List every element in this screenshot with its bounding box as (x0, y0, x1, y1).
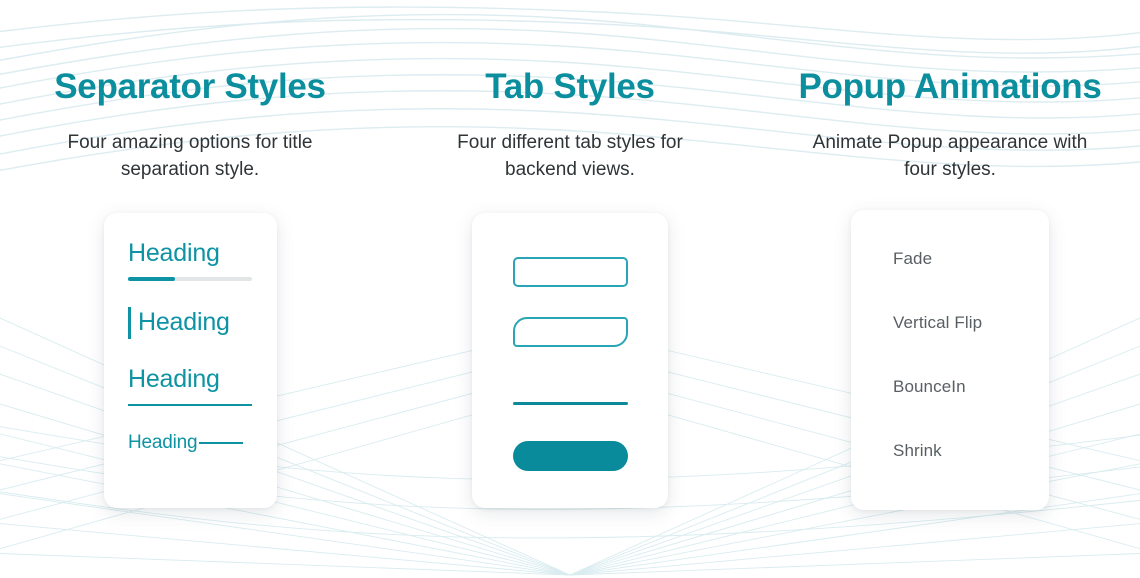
tab-option-outline-rounded-rect[interactable] (513, 257, 628, 287)
separator-label: Heading (128, 239, 252, 269)
tab-option-outline-diagonal-rounded[interactable] (513, 317, 628, 347)
feature-columns: Separator Styles Four amazing options fo… (0, 0, 1140, 578)
column-subtitle-tab-styles: Four different tab styles for backend vi… (420, 129, 720, 184)
separator-option-trailing-line[interactable]: Heading (128, 432, 252, 454)
column-title-popup-animations: Popup Animations (798, 68, 1101, 107)
column-subtitle-separator-styles: Four amazing options for title separatio… (40, 129, 340, 184)
column-title-separator-styles: Separator Styles (54, 68, 325, 107)
separator-rule-full (128, 404, 252, 406)
tab-option-filled-pill[interactable] (513, 441, 628, 471)
separator-styles-card: Heading Heading Heading Heading (104, 213, 277, 508)
tab-styles-card (472, 213, 668, 508)
separator-label: Heading (128, 365, 252, 395)
popup-option-vertical-flip[interactable]: Vertical Flip (893, 314, 1049, 331)
column-tab-styles: Tab Styles Four different tab styles for… (380, 0, 760, 578)
popup-option-fade[interactable]: Fade (893, 250, 1049, 267)
column-popup-animations: Popup Animations Animate Popup appearanc… (760, 0, 1140, 578)
popup-option-shrink[interactable]: Shrink (893, 442, 1049, 459)
separator-trailing-line (199, 442, 243, 444)
separator-option-underline-partial[interactable]: Heading (128, 239, 252, 282)
separator-rule-partial (128, 277, 252, 281)
separator-option-underline-full[interactable]: Heading (128, 365, 252, 406)
tab-option-underline-bar[interactable] (513, 402, 628, 405)
separator-vertical-bar (128, 307, 131, 339)
popup-option-bouncein[interactable]: BounceIn (893, 378, 1049, 395)
column-separator-styles: Separator Styles Four amazing options fo… (0, 0, 380, 578)
separator-option-left-vertical-bar[interactable]: Heading (128, 307, 252, 339)
column-title-tab-styles: Tab Styles (485, 68, 654, 107)
popup-animations-card: Fade Vertical Flip BounceIn Shrink (851, 210, 1049, 510)
separator-label: Heading (128, 432, 197, 454)
separator-label: Heading (138, 308, 230, 338)
column-subtitle-popup-animations: Animate Popup appearance with four style… (800, 129, 1100, 184)
